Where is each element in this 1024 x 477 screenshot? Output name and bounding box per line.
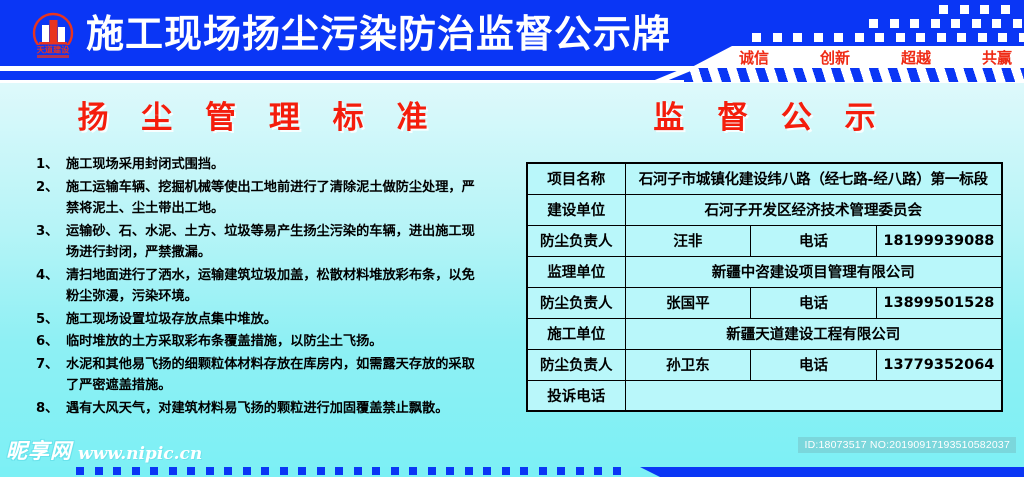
footer-dot — [576, 467, 584, 475]
table-row-owner-dust: 防尘负责人 汪非 电话 18199939088 — [527, 225, 1002, 256]
footer-dot — [150, 467, 158, 475]
header-dot — [951, 19, 960, 28]
rule-item: 8、遇有大风天气，对建筑材料易飞扬的颗粒进行加固覆盖禁止飘散。 — [36, 398, 487, 420]
cell-owner-label: 建设单位 — [527, 194, 625, 225]
header-dot — [869, 19, 878, 28]
footer-dot — [391, 467, 399, 475]
header-dot — [1001, 5, 1010, 14]
footer-dot — [169, 467, 177, 475]
footer-dot — [465, 467, 473, 475]
footer-dot — [354, 467, 362, 475]
footer-dot — [261, 467, 269, 475]
header-dot — [910, 19, 919, 28]
footer-dot — [280, 467, 288, 475]
header-dot — [972, 19, 981, 28]
rule-number: 8、 — [36, 398, 66, 420]
rule-text: 施工现场采用封闭式围挡。 — [66, 154, 487, 176]
board-title: 施工现场扬尘污染防治监督公示牌 — [86, 9, 671, 59]
rule-text: 清扫地面进行了洒水，运输建筑垃圾加盖，松散材料堆放彩布条，以免粉尘弥漫，污染环境… — [66, 265, 487, 308]
cell-contractor-value: 新疆天道建设工程有限公司 — [625, 318, 1002, 349]
footer-dot — [206, 467, 214, 475]
header-dot — [814, 33, 823, 42]
supervision-panel: 监 督 公 示 项目名称 石河子市城镇化建设纬八路（经七路-经八路）第一标段 建… — [505, 92, 1024, 412]
header-dot — [992, 19, 1001, 28]
cell-owner-tel-label: 电话 — [751, 225, 877, 256]
slogan-item-1: 创新 — [820, 47, 850, 68]
cell-supervisor-label: 监理单位 — [527, 256, 625, 287]
header-dot — [834, 33, 843, 42]
dust-standards-panel: 扬 尘 管 理 标 准 1、施工现场采用封闭式围挡。2、施工运输车辆、挖掘机械等… — [0, 92, 505, 420]
slogan-item-0: 诚信 — [739, 47, 769, 68]
footer-dot — [335, 467, 343, 475]
rule-number: 4、 — [36, 265, 66, 308]
table-row-supervisor: 监理单位 新疆中咨建设项目管理有限公司 — [527, 256, 1002, 287]
header-dot — [978, 33, 987, 42]
rule-item: 2、施工运输车辆、挖掘机械等使出工地前进行了清除泥土做防尘处理，严禁将泥土、尘土… — [36, 177, 487, 220]
publicity-board: 天道建设 施工现场扬尘污染防治监督公示牌 诚信 创新 超越 共赢 扬 尘 管 理… — [0, 0, 1024, 477]
supervision-info-table: 项目名称 石河子市城镇化建设纬八路（经七路-经八路）第一标段 建设单位 石河子开… — [526, 162, 1003, 412]
company-logo-icon: 天道建设 — [24, 9, 82, 61]
rule-number: 7、 — [36, 354, 66, 397]
footer-dot — [132, 467, 140, 475]
footer-dot — [428, 467, 436, 475]
header-dot — [793, 33, 802, 42]
footer-dot — [557, 467, 565, 475]
rule-text: 施工现场设置垃圾存放点集中堆放。 — [66, 309, 487, 331]
footer-dot — [409, 467, 417, 475]
cell-contractor-tel-value: 13779352064 — [876, 349, 1002, 380]
cell-contractor-tel-label: 电话 — [751, 349, 877, 380]
slogan-item-3: 共赢 — [982, 47, 1012, 68]
rule-text: 施工运输车辆、挖掘机械等使出工地前进行了清除泥土做防尘处理，严禁将泥土、尘土带出… — [66, 177, 487, 220]
footer-dot — [298, 467, 306, 475]
footer-dot — [613, 467, 621, 475]
header-dot — [931, 19, 940, 28]
watermark-logo: 昵享网 — [6, 435, 72, 465]
cell-project-value: 石河子市城镇化建设纬八路（经七路-经八路）第一标段 — [625, 163, 1002, 194]
id-stamp: ID:18073517 NO:20190917193510582037 — [798, 437, 1016, 453]
cell-supervisor-value: 新疆中咨建设项目管理有限公司 — [625, 256, 1002, 287]
footer-dot — [113, 467, 121, 475]
cell-owner-dust-name: 汪非 — [625, 225, 751, 256]
right-section-title: 监 督 公 示 — [505, 92, 1024, 137]
cell-supervisor-tel-value: 13899501528 — [876, 287, 1002, 318]
footer-dot — [317, 467, 325, 475]
rule-text: 遇有大风天气，对建筑材料易飞扬的颗粒进行加固覆盖禁止飘散。 — [66, 398, 487, 420]
footer-dot — [243, 467, 251, 475]
footer-dot — [502, 467, 510, 475]
rule-number: 3、 — [36, 221, 66, 264]
rule-number: 6、 — [36, 331, 66, 353]
footer-dot — [95, 467, 103, 475]
svg-text:天道建设: 天道建设 — [37, 44, 71, 54]
header-dot — [937, 33, 946, 42]
header-dot — [1019, 33, 1024, 42]
footer-dot-pattern — [76, 467, 636, 476]
header-dot — [855, 33, 864, 42]
cell-owner-tel-value: 18199939088 — [876, 225, 1002, 256]
slogan-band: 诚信 创新 超越 共赢 — [735, 47, 1024, 68]
rule-number: 5、 — [36, 309, 66, 331]
rule-item: 4、清扫地面进行了洒水，运输建筑垃圾加盖，松散材料堆放彩布条，以免粉尘弥漫，污染… — [36, 265, 487, 308]
header-dot — [916, 33, 925, 42]
rules-list: 1、施工现场采用封闭式围挡。2、施工运输车辆、挖掘机械等使出工地前进行了清除泥土… — [0, 154, 505, 419]
watermark-url: www.nipic.cn — [78, 444, 202, 465]
header-dot — [773, 33, 782, 42]
rule-item: 1、施工现场采用封闭式围挡。 — [36, 154, 487, 176]
header-dot — [980, 5, 989, 14]
header-blue-tail — [0, 71, 690, 80]
header-dot — [957, 33, 966, 42]
rule-number: 2、 — [36, 177, 66, 220]
table-row-owner: 建设单位 石河子开发区经济技术管理委员会 — [527, 194, 1002, 225]
cell-owner-value: 石河子开发区经济技术管理委员会 — [625, 194, 1002, 225]
header-dot — [752, 33, 761, 42]
footer-dot — [539, 467, 547, 475]
footer-dot — [483, 467, 491, 475]
rule-item: 7、水泥和其他易飞扬的细颗粒体材料存放在库房内，如需露天存放的采取了严密遮盖措施… — [36, 354, 487, 397]
footer-dot — [372, 467, 380, 475]
diagonal-stripe-band — [684, 68, 1024, 82]
header-dot — [875, 33, 884, 42]
table-row-contractor: 施工单位 新疆天道建设工程有限公司 — [527, 318, 1002, 349]
cell-complaint-value — [625, 380, 1002, 411]
header-dot — [896, 33, 905, 42]
cell-contractor-dust-name: 孙卫东 — [625, 349, 751, 380]
footer-dot — [446, 467, 454, 475]
footer-dot — [187, 467, 195, 475]
rule-text: 水泥和其他易飞扬的细颗粒体材料存放在库房内，如需露天存放的采取了严密遮盖措施。 — [66, 354, 487, 397]
cell-supervisor-dust-name: 张国平 — [625, 287, 751, 318]
cell-owner-dust-label: 防尘负责人 — [527, 225, 625, 256]
rule-item: 5、施工现场设置垃圾存放点集中堆放。 — [36, 309, 487, 331]
cell-contractor-label: 施工单位 — [527, 318, 625, 349]
footer-dot — [594, 467, 602, 475]
header-dot — [998, 33, 1007, 42]
cell-contractor-dust-label: 防尘负责人 — [527, 349, 625, 380]
header-dot — [890, 19, 899, 28]
cell-supervisor-dust-label: 防尘负责人 — [527, 287, 625, 318]
header-dot — [1013, 19, 1022, 28]
table-row-complaint: 投诉电话 — [527, 380, 1002, 411]
slogan-item-2: 超越 — [901, 47, 931, 68]
rule-item: 3、运输砂、石、水泥、土方、垃圾等易产生扬尘污染的车辆，进出施工现场进行封闭，严… — [36, 221, 487, 264]
watermark: 昵享网 www.nipic.cn — [6, 435, 202, 465]
cell-project-label: 项目名称 — [527, 163, 625, 194]
footer-dot — [76, 467, 84, 475]
rule-text: 运输砂、石、水泥、土方、垃圾等易产生扬尘污染的车辆，进出施工现场进行封闭，严禁撒… — [66, 221, 487, 264]
cell-complaint-label: 投诉电话 — [527, 380, 625, 411]
rule-number: 1、 — [36, 154, 66, 176]
footer-dot — [224, 467, 232, 475]
header-dot-pattern — [724, 0, 1024, 52]
left-section-title: 扬 尘 管 理 标 准 — [0, 92, 505, 137]
table-row-supervisor-dust: 防尘负责人 张国平 电话 13899501528 — [527, 287, 1002, 318]
cell-supervisor-tel-label: 电话 — [751, 287, 877, 318]
footer-dot — [520, 467, 528, 475]
table-row-contractor-dust: 防尘负责人 孙卫东 电话 13779352064 — [527, 349, 1002, 380]
rule-text: 临时堆放的土方采取彩布条覆盖措施，以防尘土飞扬。 — [66, 331, 487, 353]
table-row-project: 项目名称 石河子市城镇化建设纬八路（经七路-经八路）第一标段 — [527, 163, 1002, 194]
header-dot — [939, 5, 948, 14]
header-dot — [960, 5, 969, 14]
rule-item: 6、临时堆放的土方采取彩布条覆盖措施，以防尘土飞扬。 — [36, 331, 487, 353]
